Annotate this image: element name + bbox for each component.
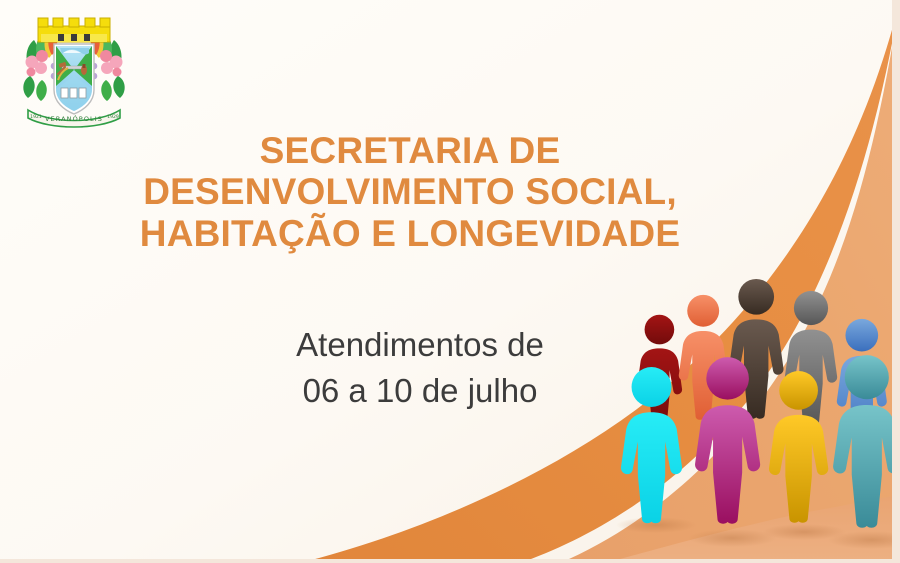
crest-date-left: 1921 <box>30 114 42 120</box>
slide-root: VERANÓPOLIS 1921 1929 SECRETARIA DE DESE… <box>0 0 900 563</box>
bottom-edge-strip <box>0 559 900 563</box>
brasao-veranopolis-icon: VERANÓPOLIS 1921 1929 <box>18 8 130 130</box>
right-edge-strip <box>892 0 900 563</box>
crest-crown-icon <box>38 18 110 42</box>
title-line-2: DESENVOLVIMENTO SOCIAL, <box>120 171 700 212</box>
people-group-illustration <box>600 270 900 563</box>
person-cyan <box>621 367 682 523</box>
person-brown <box>729 279 784 419</box>
crest-date-right: 1929 <box>107 114 119 120</box>
page-title: SECRETARIA DE DESENVOLVIMENTO SOCIAL, HA… <box>120 130 700 254</box>
title-line-3: HABITAÇÃO E LONGEVIDADE <box>120 213 700 254</box>
title-line-1: SECRETARIA DE <box>120 130 700 171</box>
person-orange <box>679 295 728 420</box>
crest-banner-text: VERANÓPOLIS <box>45 114 103 123</box>
crest-shield-icon <box>54 44 94 114</box>
